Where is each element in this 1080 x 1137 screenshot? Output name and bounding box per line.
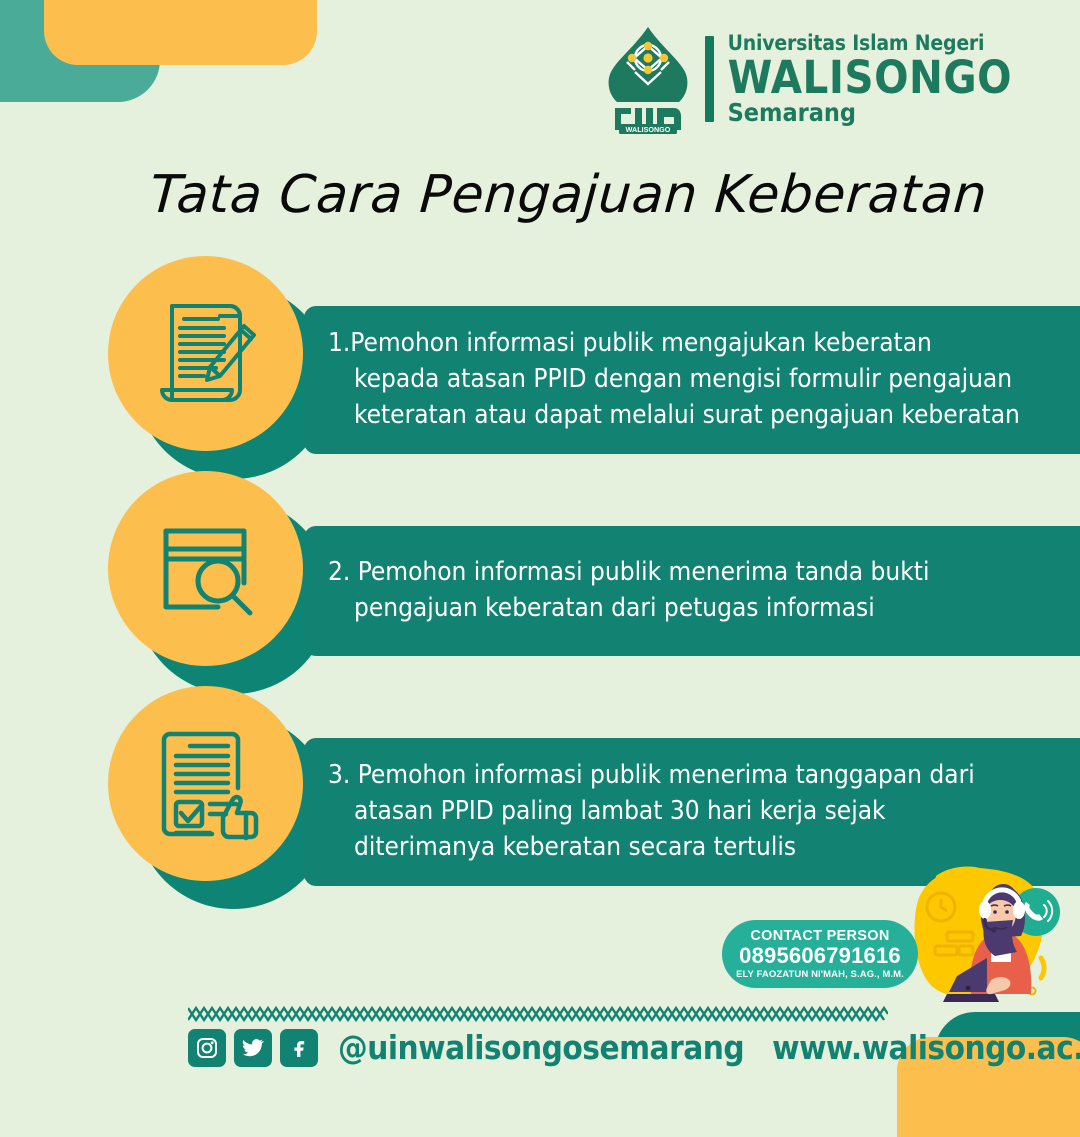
step-icon-circle — [108, 686, 303, 881]
logo-divider — [705, 36, 714, 122]
twitter-glyph — [241, 1036, 265, 1060]
logo-line-semarang: Semarang — [728, 100, 1012, 125]
step-text-2: 2. Pemohon informasi publik menerima tan… — [328, 555, 929, 627]
contact-person-card: CONTACT PERSON 0895606791616 ELY FAOZATU… — [722, 920, 918, 988]
svg-text:WALISONGO: WALISONGO — [625, 125, 670, 134]
step-text-1: 1.Pemohon informasi publik mengajukan ke… — [328, 326, 1020, 434]
facebook-glyph — [287, 1036, 311, 1060]
scroll-pencil-icon — [142, 290, 270, 418]
instagram-icon[interactable] — [188, 1029, 226, 1067]
footer-bar: @uinwalisongosemarang www.walisongo.ac.i… — [188, 1028, 1080, 1067]
customer-service-illustration — [895, 862, 1070, 1010]
step-icon-circle — [108, 471, 303, 666]
page-title: Tata Cara Pengajuan Keberatan — [148, 165, 1032, 225]
decor-top-left-orange — [44, 0, 317, 65]
footer-social-handle[interactable]: @uinwalisongosemarang — [338, 1028, 744, 1067]
step-panel-1: 1.Pemohon informasi publik mengajukan ke… — [304, 306, 1080, 454]
facebook-icon[interactable] — [280, 1029, 318, 1067]
logo-line-walisongo: WALISONGO — [728, 56, 1012, 100]
twitter-icon[interactable] — [234, 1029, 272, 1067]
checklist-thumbsup-icon — [142, 720, 270, 848]
contact-label: CONTACT PERSON — [750, 928, 889, 944]
step-text-3: 3. Pemohon informasi publik menerima tan… — [328, 758, 975, 866]
step-icon-circle — [108, 256, 303, 451]
document-search-icon — [142, 505, 270, 633]
logo-wordmark: Universitas Islam Negeri WALISONGO Semar… — [728, 33, 1012, 126]
footer-website-url[interactable]: www.walisongo.ac.id — [772, 1028, 1080, 1067]
walisongo-seal-icon: WALISONGO — [605, 24, 691, 134]
contact-name: ELY FAOZATUN NI'MAH, S.AG., M.M. — [736, 969, 904, 980]
contact-number[interactable]: 0895606791616 — [739, 944, 901, 968]
step-panel-2: 2. Pemohon informasi publik menerima tan… — [304, 526, 1080, 656]
instagram-glyph — [195, 1036, 219, 1060]
university-logo: WALISONGO Universitas Islam Negeri WALIS… — [605, 24, 1012, 134]
zigzag-divider — [188, 1004, 888, 1024]
